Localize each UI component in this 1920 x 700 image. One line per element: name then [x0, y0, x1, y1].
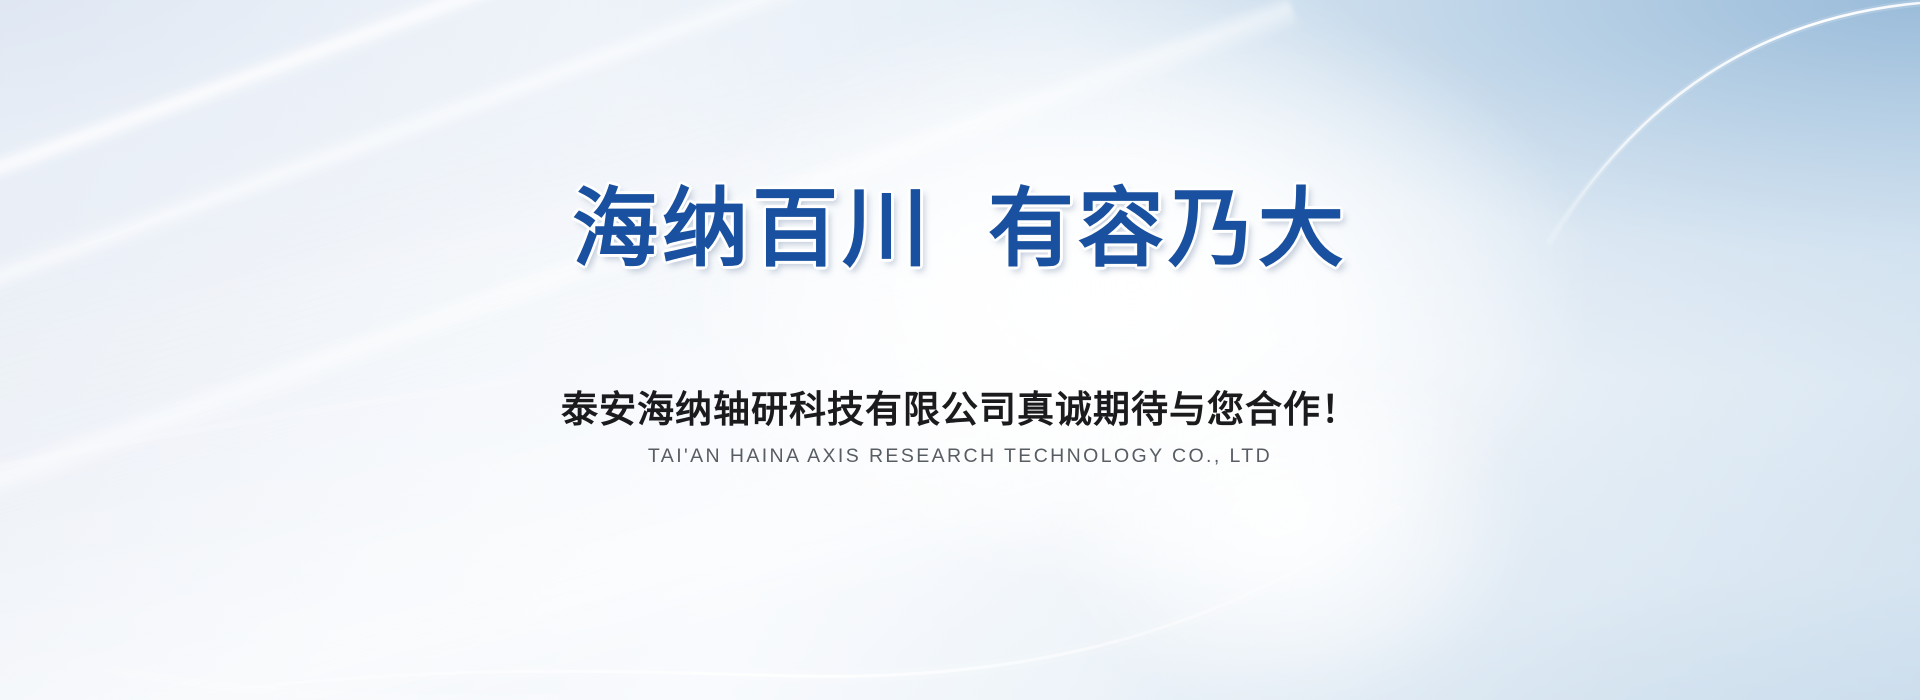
banner-content: 海纳百川 有容乃大 泰安海纳轴研科技有限公司真诚期待与您合作！ TAI'AN H…: [0, 0, 1920, 700]
subtitle-english: TAI'AN HAINA AXIS RESEARCH TECHNOLOGY CO…: [0, 444, 1920, 469]
hero-banner: 海纳百川 有容乃大 泰安海纳轴研科技有限公司真诚期待与您合作！ TAI'AN H…: [0, 0, 1920, 700]
subtitle-chinese: 泰安海纳轴研科技有限公司真诚期待与您合作！: [0, 387, 1920, 433]
page-title: 海纳百川 有容乃大: [0, 186, 1920, 272]
